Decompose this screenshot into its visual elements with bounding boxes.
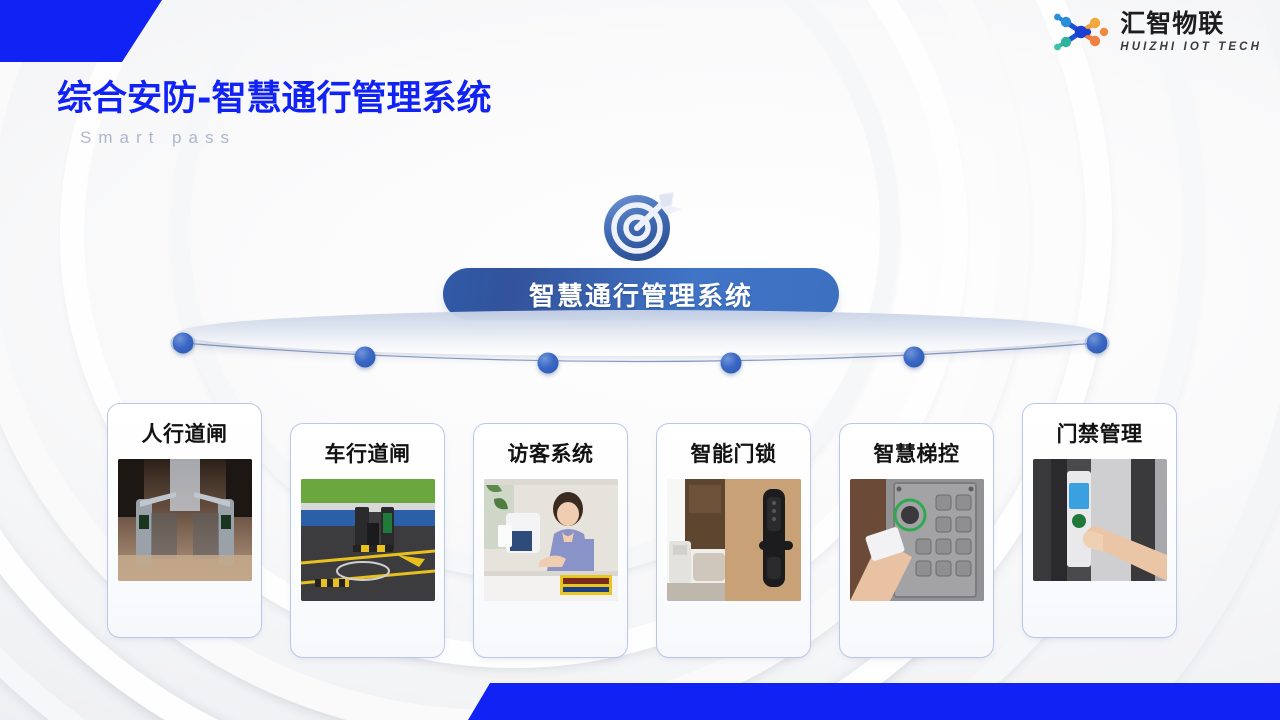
fingerprint-access-panel-photo xyxy=(1033,459,1167,581)
feature-card-title: 门禁管理 xyxy=(1057,418,1143,448)
connector-node-5 xyxy=(904,347,925,368)
molecule-network-icon xyxy=(1050,8,1112,56)
logo-chinese-name: 汇智物联 xyxy=(1120,11,1262,36)
page-title: 综合安防-智慧通行管理系统 xyxy=(57,70,492,121)
bottom-right-accent-bar xyxy=(468,683,1280,720)
logo-english-name: HUIZHI IOT TECH xyxy=(1120,42,1262,54)
target-dart-icon xyxy=(596,186,686,266)
feature-card-5[interactable]: 智慧梯控 xyxy=(839,423,994,658)
page-subtitle: Smart pass xyxy=(80,128,236,148)
feature-card-title: 车行道闸 xyxy=(325,438,411,468)
slide-canvas: 汇智物联 HUIZHI IOT TECH 综合安防-智慧通行管理系统 Smart… xyxy=(0,0,1280,720)
feature-card-title: 智慧梯控 xyxy=(874,438,960,468)
feature-card-2[interactable]: 车行道闸 xyxy=(290,423,445,658)
top-left-accent-shape xyxy=(0,0,162,62)
connector-node-1 xyxy=(173,333,194,354)
feature-card-title: 智能门锁 xyxy=(691,438,777,468)
connector-node-2 xyxy=(355,347,376,368)
connector-node-6 xyxy=(1087,333,1108,354)
feature-card-title: 人行道闸 xyxy=(142,418,228,448)
connector-node-3 xyxy=(538,353,559,374)
company-logo: 汇智物联 HUIZHI IOT TECH xyxy=(1050,8,1262,56)
feature-card-6[interactable]: 门禁管理 xyxy=(1022,403,1177,638)
elevator-card-access-photo xyxy=(850,479,984,601)
feature-card-title: 访客系统 xyxy=(508,438,594,468)
visitor-reception-desk-photo xyxy=(484,479,618,601)
vehicle-barrier-gate-photo xyxy=(301,479,435,601)
feature-card-3[interactable]: 访客系统 xyxy=(473,423,628,658)
feature-card-1[interactable]: 人行道闸 xyxy=(107,403,262,638)
smart-door-lock-photo xyxy=(667,479,801,601)
feature-card-4[interactable]: 智能门锁 xyxy=(656,423,811,658)
connector-node-4 xyxy=(721,353,742,374)
speed-gate-turnstile-photo xyxy=(118,459,252,581)
